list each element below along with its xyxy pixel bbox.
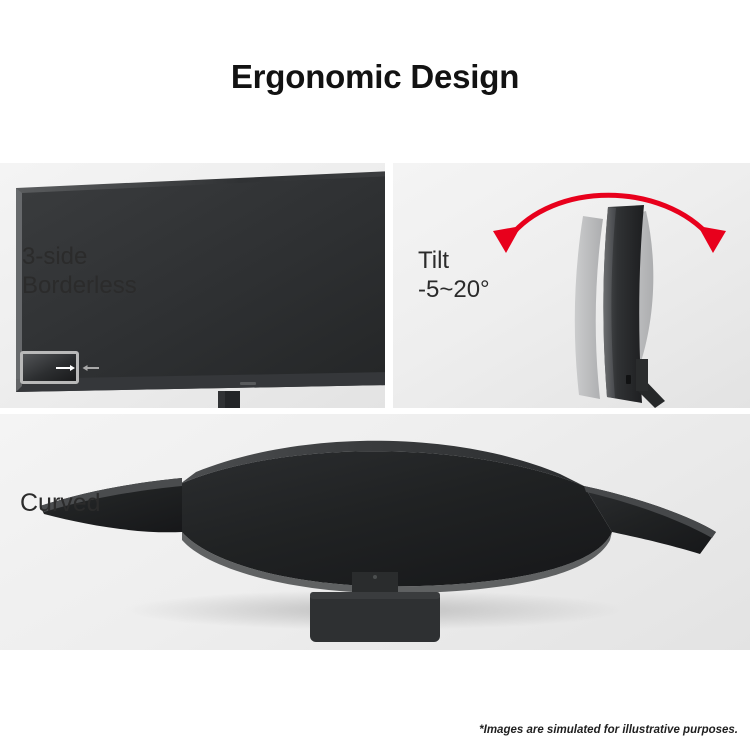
page-title: Ergonomic Design (0, 58, 750, 96)
feature-label-borderless: 3-side Borderless (22, 242, 137, 300)
feature-label-curved: Curved (20, 489, 101, 518)
feature-panel-curved (0, 414, 750, 650)
disclaimer-note: *Images are simulated for illustrative p… (479, 724, 738, 736)
feature-label-tilt: Tilt -5~20° (418, 246, 490, 304)
curved-monitor-artwork (0, 414, 750, 650)
borderless-monitor-icon (20, 349, 110, 394)
